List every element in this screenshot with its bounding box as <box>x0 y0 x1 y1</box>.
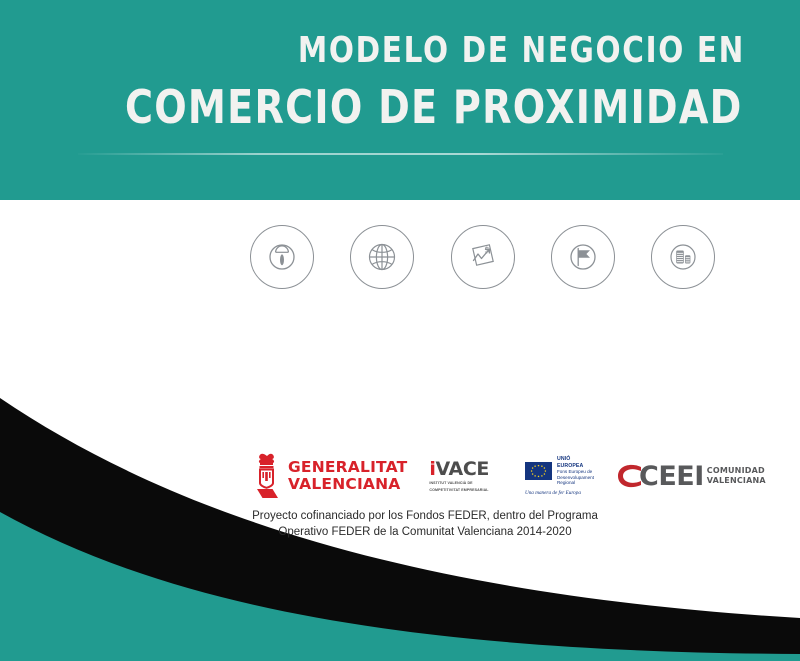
funding-logos-strip: GENERALITAT VALENCIANA iVACE INSTITUT VA… <box>252 448 734 504</box>
ceei-wordmark: CEEI <box>639 463 704 490</box>
poster-canvas: MODELO DE NEGOCIO EN COMERCIO DE PROXIMI… <box>0 0 800 661</box>
generalitat-wordmark: GENERALITAT VALENCIANA <box>288 459 407 493</box>
ivace-subtitle-line-2: COMPETITIVITAT EMPRESARIAL <box>429 488 488 493</box>
european-union-feder-logo: UNIÓ EUROPEA Fons Europeu de Desenvolupa… <box>525 456 594 495</box>
funding-caption: Proyecto cofinanciado por los Fondos FED… <box>190 508 660 540</box>
page-title-line-1: MODELO DE NEGOCIO EN <box>134 30 745 72</box>
svg-text:$: $ <box>484 245 489 255</box>
ivace-letter-v: V <box>436 458 449 480</box>
eu-motto: Una manera de fer Europa <box>525 490 594 496</box>
eu-logo-text: UNIÓ EUROPEA Fons Europeu de Desenvolupa… <box>557 456 594 485</box>
flag-icon[interactable] <box>551 225 615 289</box>
globe-icon[interactable] <box>350 225 414 289</box>
ivace-logo: iVACE INSTITUT VALENCIÀ DE COMPETITIVITA… <box>429 460 489 492</box>
ceei-comunidad-valenciana-logo: CEEI COMUNIDAD VALENCIANA <box>616 459 766 493</box>
coin-stacks-icon[interactable] <box>651 225 715 289</box>
icon-row: $ <box>250 224 715 290</box>
generalitat-crest-icon <box>252 453 282 499</box>
generalitat-line-1: GENERALITAT <box>288 459 407 476</box>
ceei-subtitle: COMUNIDAD VALENCIANA <box>707 466 766 486</box>
eu-logo-top: UNIÓ EUROPEA Fons Europeu de Desenvolupa… <box>525 456 594 485</box>
generalitat-line-2: VALENCIANA <box>288 476 407 493</box>
eu-flag-icon <box>525 462 552 480</box>
user-profile-icon[interactable] <box>250 225 314 289</box>
caption-line-1: Proyecto cofinanciado por los Fondos FED… <box>190 508 660 524</box>
ivace-wordmark: iVACE <box>429 460 489 479</box>
page-title-line-2: COMERCIO DE PROXIMIDAD <box>125 80 735 134</box>
eu-title: UNIÓ EUROPEA <box>557 456 583 468</box>
growth-chart-dollar-icon[interactable]: $ <box>451 225 515 289</box>
caption-line-2: Operativo FEDER de la Comunitat Valencia… <box>190 524 660 540</box>
ivace-subtitle-line-1: INSTITUT VALENCIÀ DE <box>429 481 472 486</box>
ceei-subtitle-line-1: COMUNIDAD <box>707 466 766 476</box>
ceei-subtitle-line-2: VALENCIANA <box>707 476 766 486</box>
ivace-letters-ace: ACE <box>449 458 489 480</box>
generalitat-valenciana-logo: GENERALITAT VALENCIANA <box>252 453 407 499</box>
eu-subtitle-line-2: Desenvolupament Regional <box>557 475 594 486</box>
title-divider <box>78 153 723 155</box>
eu-subtitle-line-1: Fons Europeu de <box>557 469 594 474</box>
